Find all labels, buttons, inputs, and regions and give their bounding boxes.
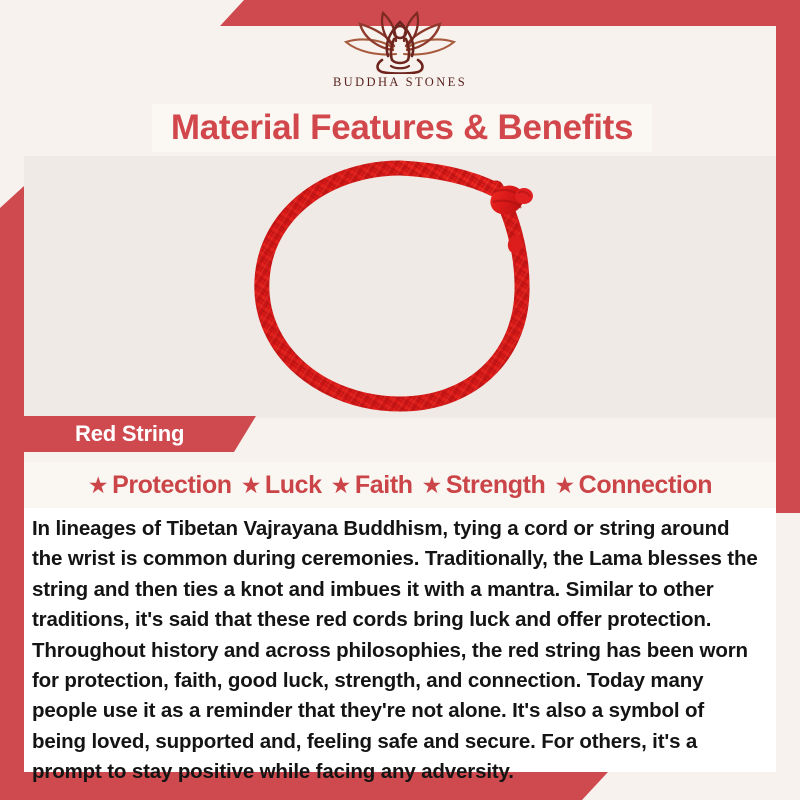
star-icon: ★ — [241, 474, 261, 497]
benefits-row: ★ Protection ★ Luck ★ Faith ★ Strength ★… — [24, 462, 776, 508]
title-plate: Material Features & Benefits — [152, 104, 652, 152]
brand-logo: BUDDHA STONES — [0, 8, 800, 90]
brand-wordmark: BUDDHA STONES — [333, 75, 467, 90]
left-accent-strip — [0, 186, 24, 800]
benefit-label: Faith — [355, 471, 413, 500]
page-title: Material Features & Benefits — [171, 108, 633, 148]
benefit-label: Connection — [579, 471, 713, 500]
benefit-item-protection: ★ Protection — [88, 471, 232, 500]
benefit-label: Protection — [112, 471, 232, 500]
star-icon: ★ — [88, 474, 108, 497]
infographic-page: BUDDHA STONES Material Features & Benefi… — [0, 0, 800, 800]
description-card: In lineages of Tibetan Vajrayana Buddhis… — [24, 508, 776, 772]
benefit-item-connection: ★ Connection — [554, 471, 712, 500]
benefit-item-luck: ★ Luck — [241, 471, 322, 500]
red-string-bracelet-image — [204, 156, 596, 418]
star-icon: ★ — [422, 474, 442, 497]
lotus-meditation-figure-icon — [336, 8, 464, 74]
star-icon: ★ — [554, 474, 574, 497]
right-accent-strip — [776, 26, 800, 513]
material-label-banner: Red String — [24, 416, 256, 452]
star-icon: ★ — [331, 474, 351, 497]
material-label-text: Red String — [75, 421, 184, 447]
benefit-item-strength: ★ Strength — [422, 471, 546, 500]
benefit-label: Strength — [446, 471, 546, 500]
benefit-item-faith: ★ Faith — [331, 471, 413, 500]
benefit-label: Luck — [265, 471, 322, 500]
description-paragraph: In lineages of Tibetan Vajrayana Buddhis… — [24, 508, 776, 788]
hero-image-area — [24, 156, 776, 418]
